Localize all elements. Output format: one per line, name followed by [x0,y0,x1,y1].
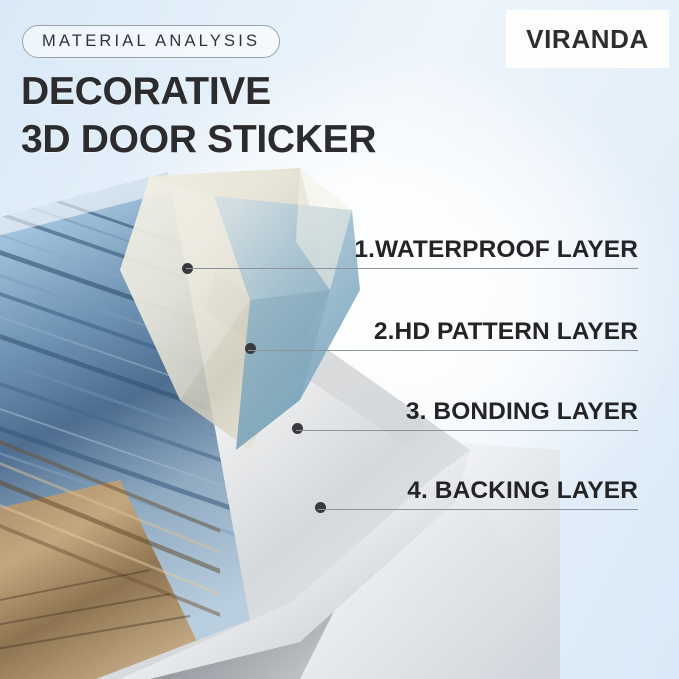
callout-label-2: 2.HD PATTERN LAYER [374,318,638,346]
material-analysis-badge: MATERIAL ANALYSIS [22,25,280,58]
callout-layer-1: 1.WATERPROOF LAYER [186,236,638,269]
callout-rule-4 [318,509,638,510]
callout-label-4: 4. BACKING LAYER [407,477,638,505]
callout-label-1: 1.WATERPROOF LAYER [354,236,638,264]
callout-layer-4: 4. BACKING LAYER [318,477,638,510]
callout-label-3: 3. BONDING LAYER [406,398,638,426]
title-line-1: DECORATIVE [21,68,491,116]
brand-logo-box: VIRANDA [506,10,669,68]
badge-label: MATERIAL ANALYSIS [42,32,260,51]
brand-name: VIRANDA [526,24,649,55]
callout-rule-1 [186,268,638,269]
callout-layer-3: 3. BONDING LAYER [296,398,638,431]
product-infographic: MATERIAL ANALYSIS DECORATIVE 3D DOOR STI… [0,0,679,679]
callout-layer-2: 2.HD PATTERN LAYER [248,318,638,351]
callout-rule-2 [248,350,638,351]
callout-rule-3 [296,430,638,431]
